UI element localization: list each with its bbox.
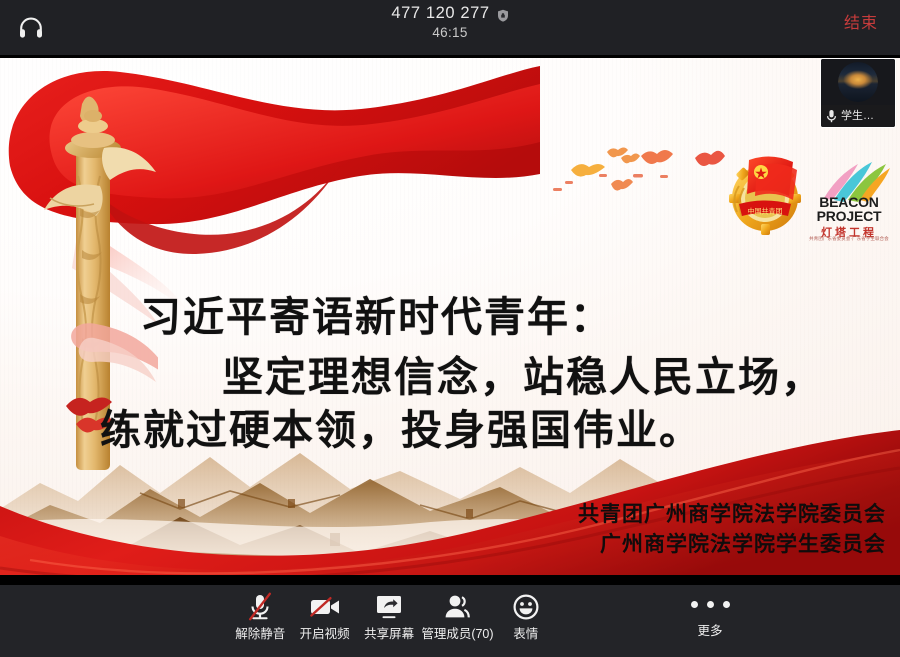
- avatar: [838, 62, 878, 102]
- self-view-thumbnail[interactable]: 学生…: [820, 58, 896, 128]
- participants-button-label: 管理成员(70): [421, 627, 493, 642]
- end-meeting-button[interactable]: 结束: [838, 11, 884, 37]
- self-view-name-bar: 学生…: [821, 105, 895, 127]
- toolbar-main-actions: 解除静音 开启视频: [228, 590, 558, 652]
- self-view-name: 学生…: [841, 110, 874, 122]
- meeting-top-bar: 477 120 277 46:15 结束: [0, 0, 900, 55]
- avatar-image: [838, 62, 878, 102]
- microphone-icon: [826, 109, 837, 123]
- headphone-icon-glyph: [18, 16, 44, 40]
- shared-screen-stage[interactable]: 中国共青团 BEACON PROJECT 灯塔工程: [0, 55, 900, 583]
- poster-organization-text: 共青团广州商学院法学院委员会 广州商学院法学院学生委员会: [466, 499, 886, 559]
- meeting-toolbar: 解除静音 开启视频: [0, 585, 900, 657]
- microphone-muted-icon-glyph: [246, 592, 274, 622]
- microphone-muted-icon: [246, 590, 274, 624]
- dot-2: [707, 601, 714, 608]
- meeting-id-row: 477 120 277: [391, 3, 508, 23]
- more-dots-icon: [691, 593, 730, 615]
- shared-poster-image: 中国共青团 BEACON PROJECT 灯塔工程: [0, 58, 900, 575]
- poster-calligraphy-text: 习近平寄语新时代青年： 坚定理想信念，站稳人民立场， 练就过硬本领，投身强国伟业…: [0, 58, 900, 575]
- meeting-timer: 46:15: [0, 24, 900, 42]
- camera-off-icon-glyph: [309, 595, 341, 619]
- unmute-button[interactable]: 解除静音: [228, 590, 292, 642]
- self-view-video: [821, 59, 895, 105]
- reactions-button-label: 表情: [513, 627, 538, 642]
- participants-button[interactable]: 管理成员(70): [421, 590, 493, 642]
- meeting-id: 477 120 277: [391, 3, 489, 23]
- start-video-button-label: 开启视频: [300, 627, 350, 642]
- start-video-button[interactable]: 开启视频: [292, 590, 356, 642]
- shield-icon-glyph: [497, 9, 509, 22]
- share-screen-button[interactable]: 共享屏幕: [357, 590, 421, 642]
- reactions-button[interactable]: 表情: [494, 590, 558, 642]
- more-button[interactable]: 更多: [668, 593, 752, 639]
- participants-icon-glyph: [443, 594, 471, 620]
- camera-off-icon: [309, 590, 341, 624]
- dot-1: [691, 601, 698, 608]
- share-screen-icon-glyph: [375, 594, 403, 620]
- meeting-info: 477 120 277 46:15: [0, 3, 900, 42]
- emoji-icon-glyph: [513, 594, 539, 620]
- emoji-icon: [513, 590, 539, 624]
- participants-icon: [443, 590, 471, 624]
- calligraphy-line-3: 练就过硬本领，投身强国伟业。: [100, 396, 702, 456]
- unmute-button-label: 解除静音: [235, 627, 285, 642]
- share-screen-icon: [375, 590, 403, 624]
- dot-3: [723, 601, 730, 608]
- org-line-2: 广州商学院法学院学生委员会: [466, 529, 886, 559]
- shield-icon: [497, 7, 509, 20]
- calligraphy-line-2: 坚定理想信念，站稳人民立场，: [222, 343, 824, 403]
- org-line-1: 共青团广州商学院法学院委员会: [466, 499, 886, 529]
- calligraphy-line-1: 习近平寄语新时代青年：: [140, 283, 613, 343]
- share-screen-button-label: 共享屏幕: [364, 627, 414, 642]
- headphone-icon[interactable]: [11, 8, 51, 48]
- zoom-meeting-window: 477 120 277 46:15 结束: [0, 0, 900, 657]
- more-button-label: 更多: [697, 624, 722, 639]
